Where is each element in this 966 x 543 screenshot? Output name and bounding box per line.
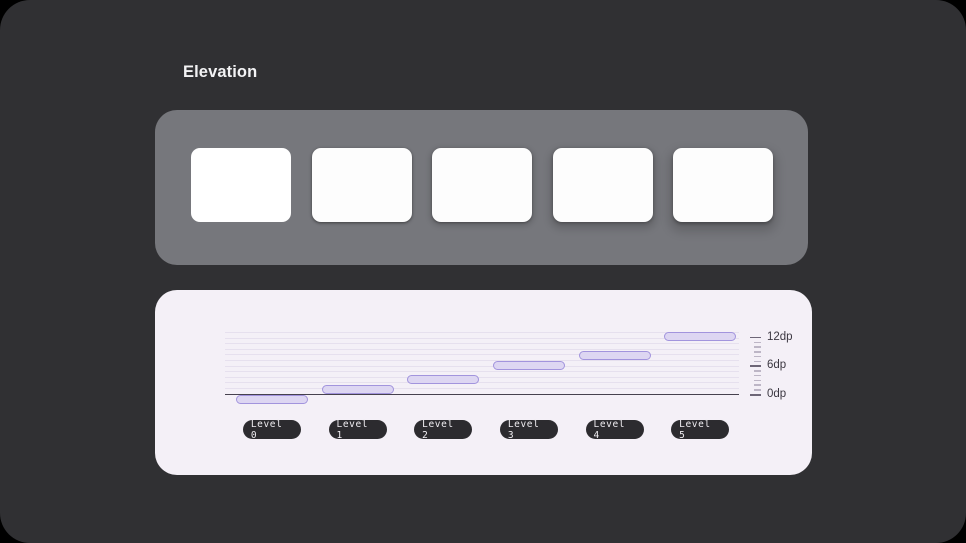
gridline: [225, 338, 739, 339]
tick-6dp: [750, 365, 761, 367]
level-pill-5[interactable]: Level 5: [671, 420, 729, 439]
level-pill-3[interactable]: Level 3: [500, 420, 558, 439]
elevation-swatch-panel: [155, 110, 808, 265]
chart-gridlines: [225, 332, 739, 394]
elevation-bar-level-2: [407, 375, 479, 384]
elevation-card-level-2[interactable]: [432, 148, 532, 222]
elevation-card-level-4[interactable]: [673, 148, 773, 222]
tick-0dp: [750, 394, 761, 396]
elevation-bar-level-0: [236, 395, 308, 404]
elevation-bar-level-5: [664, 332, 736, 341]
app-stage: Elevation 0dp6dp12dp Level 0Level 1Level…: [0, 0, 966, 543]
gridline: [225, 343, 739, 344]
tick-10dp: [754, 346, 761, 348]
elevation-card-level-3[interactable]: [553, 148, 653, 222]
elevation-bar-level-3: [493, 361, 565, 370]
gridline: [225, 377, 739, 378]
gridline: [225, 354, 739, 355]
tick-8dp: [754, 356, 761, 358]
tick-5dp: [754, 370, 761, 372]
tick-label-0dp: 0dp: [767, 388, 786, 400]
elevation-card-row: [155, 110, 808, 265]
tick-1dp: [754, 389, 761, 391]
elevation-bar-level-4: [579, 351, 651, 360]
tick-9dp: [754, 351, 761, 353]
elevation-card-level-1[interactable]: [312, 148, 412, 222]
gridline: [225, 349, 739, 350]
tick-3dp: [754, 380, 761, 382]
level-pill-4[interactable]: Level 4: [586, 420, 644, 439]
tick-11dp: [754, 342, 761, 344]
level-pill-1[interactable]: Level 1: [329, 420, 387, 439]
elevation-chart-panel: 0dp6dp12dp Level 0Level 1Level 2Level 3L…: [155, 290, 812, 475]
gridline: [225, 332, 739, 333]
gridline: [225, 382, 739, 383]
chart-baseline-axis: [225, 394, 739, 395]
gridline: [225, 366, 739, 367]
chart-tick-marks: [747, 332, 761, 395]
tick-7dp: [754, 361, 761, 363]
elevation-bar-level-1: [322, 385, 394, 394]
gridline: [225, 388, 739, 389]
level-pill-2[interactable]: Level 2: [414, 420, 472, 439]
level-pill-0[interactable]: Level 0: [243, 420, 301, 439]
tick-label-6dp: 6dp: [767, 359, 786, 371]
gridline: [225, 360, 739, 361]
tick-2dp: [754, 384, 761, 386]
page-title: Elevation: [183, 63, 257, 82]
elevation-card-level-0[interactable]: [191, 148, 291, 222]
chart-plot-area: [225, 332, 739, 394]
gridline: [225, 371, 739, 372]
tick-label-12dp: 12dp: [767, 331, 793, 343]
tick-4dp: [754, 375, 761, 377]
tick-12dp: [750, 337, 761, 339]
